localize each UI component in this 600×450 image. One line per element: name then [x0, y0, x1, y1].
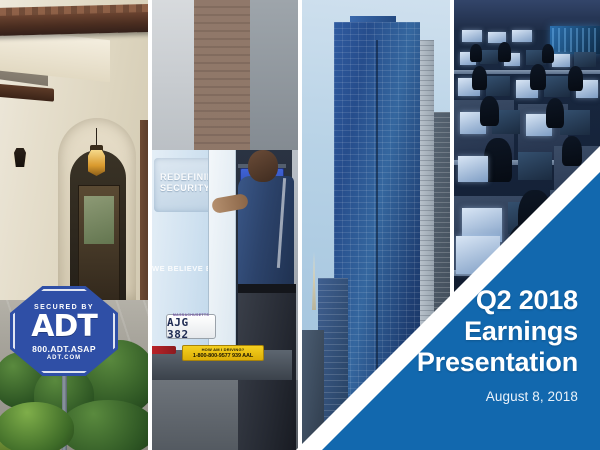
presentation-cover-slide: SECURED BY ADT 800.ADT.ASAP ADT.COM REDE…: [0, 0, 600, 450]
presentation-title: Q2 2018 Earnings Presentation: [298, 285, 578, 378]
operator-figure: [472, 66, 487, 90]
title-line-2: Earnings: [298, 316, 578, 347]
panel-residential-home: SECURED BY ADT 800.ADT.ASAP ADT.COM: [0, 0, 148, 450]
panel-service-technician-van: REDEFINING SECURITY WE BELIEVE EVERYONE …: [152, 0, 298, 450]
technician-head: [248, 150, 278, 182]
operator-figure: [470, 44, 482, 62]
license-plate-number: AJG 382: [167, 317, 215, 341]
porch-column: [140, 120, 148, 305]
yard-sign-phone: 800.ADT.ASAP: [32, 344, 96, 354]
operator-figure: [542, 44, 554, 63]
monitor: [462, 30, 482, 42]
van-rear-door: [208, 150, 236, 375]
monitor: [486, 76, 510, 96]
operator-figure: [530, 64, 546, 90]
monitor: [458, 156, 488, 182]
operator-figure: [568, 66, 583, 91]
monitor: [544, 76, 570, 97]
operator-figure: [484, 138, 512, 182]
shrub: [0, 402, 74, 450]
operator-figure: [562, 136, 582, 166]
background-building-left: [152, 0, 196, 160]
adt-logo: ADT: [31, 312, 97, 342]
monitor: [560, 110, 590, 135]
wall-lamp-icon: [14, 148, 26, 167]
monitor: [518, 152, 552, 180]
operator-figure: [546, 98, 564, 128]
driving-sticker-number: 1-800-800-9577 939 AAL: [193, 353, 253, 359]
technician-belt: [238, 284, 296, 293]
monitor: [552, 54, 570, 67]
presentation-date: August 8, 2018: [298, 389, 578, 404]
yard-sign-website: ADT.COM: [47, 355, 81, 361]
title-line-1: Q2 2018: [298, 285, 578, 316]
how-am-i-driving-sticker: HOW AM I DRIVING? 1-800-800-9577 939 AAL: [182, 345, 264, 361]
video-wall-display: [550, 26, 600, 54]
hanging-lantern-icon: [88, 150, 105, 176]
monitor: [512, 30, 532, 42]
technician-torso: [238, 176, 294, 290]
title-line-3: Presentation: [298, 347, 578, 378]
door-glass-panel: [84, 196, 114, 244]
monitor: [480, 50, 498, 64]
background-building-brick: [194, 0, 250, 150]
operator-figure: [480, 96, 499, 126]
roof-fascia: [0, 12, 148, 36]
background-building-right: [250, 0, 298, 150]
van-taillight: [152, 346, 176, 354]
monitor: [574, 52, 596, 67]
license-plate: MASSACHUSETTS AJG 382: [166, 314, 216, 339]
operator-figure: [498, 42, 511, 62]
title-block: Q2 2018 Earnings Presentation August 8, …: [298, 285, 578, 404]
